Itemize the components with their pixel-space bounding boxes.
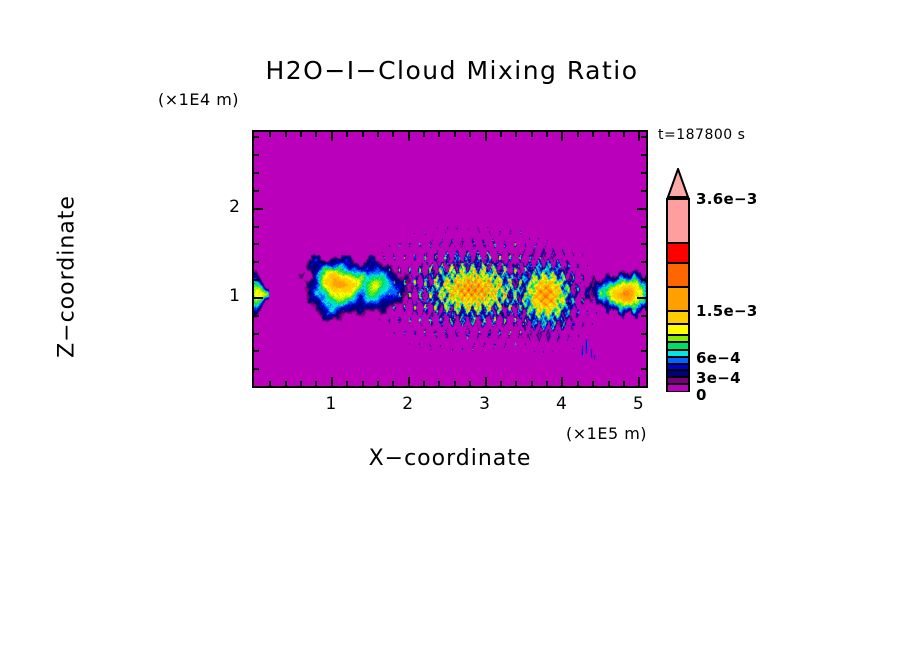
y-tick-right [641, 243, 646, 245]
y-tick-right [641, 368, 646, 370]
colorbar-arrow-icon [666, 168, 690, 198]
x-tick [377, 381, 379, 386]
y-tick-right [641, 136, 646, 138]
colorbar-segment [668, 288, 688, 310]
x-tick [438, 381, 440, 386]
colorbar-ticklabel: 6e−4 [696, 349, 741, 367]
x-tick [638, 377, 640, 386]
x-tick-top [269, 132, 271, 137]
colorbar-segment [668, 312, 688, 323]
x-tick [608, 381, 610, 386]
x-tick-top [331, 132, 333, 141]
x-ticklabel: 2 [388, 394, 428, 414]
x-tick-top [285, 132, 287, 137]
x-ticklabel: 4 [541, 394, 581, 414]
x-axis-units-label: (×1E5 m) [566, 424, 647, 443]
y-tick-right [641, 279, 646, 281]
y-tick [254, 136, 259, 138]
x-tick-top [469, 132, 471, 137]
x-tick-top [423, 132, 425, 137]
page-title: H2O−I−Cloud Mixing Ratio [0, 56, 904, 85]
y-tick-right [641, 154, 646, 156]
x-tick-top [577, 132, 579, 137]
x-tick [362, 381, 364, 386]
y-tick-right [641, 315, 646, 317]
y-tick [254, 333, 259, 335]
y-axis-units-label: (×1E4 m) [158, 90, 239, 109]
x-tick [500, 381, 502, 386]
x-tick-top [500, 132, 502, 137]
colorbar-segment [668, 244, 688, 262]
y-tick [254, 154, 259, 156]
colorbar-ticklabel: 3e−4 [696, 369, 741, 387]
x-tick-top [392, 132, 394, 137]
y-ticklabel: 2 [218, 197, 240, 217]
y-tick-right [641, 190, 646, 192]
colorbar-segment [668, 385, 688, 391]
colorbar[interactable] [666, 168, 690, 392]
y-tick [254, 350, 259, 352]
x-tick-top [454, 132, 456, 137]
colorbar-segment [668, 200, 688, 242]
x-tick-top [608, 132, 610, 137]
y-tick [254, 243, 259, 245]
y-tick-right [641, 172, 646, 174]
y-tick [254, 172, 259, 174]
y-axis-title: Z−coordinate [55, 157, 80, 397]
x-ticklabel: 3 [465, 394, 505, 414]
colorbar-segment [668, 264, 688, 286]
x-tick-top [561, 132, 563, 141]
x-tick-top [638, 132, 640, 141]
timestamp-annotation: t=187800 s [658, 127, 745, 143]
x-tick [392, 381, 394, 386]
x-tick-top [546, 132, 548, 137]
x-tick [561, 377, 563, 386]
x-tick-top [515, 132, 517, 137]
x-tick [577, 381, 579, 386]
y-tick [254, 279, 259, 281]
y-tick-right [637, 297, 646, 299]
y-tick [254, 368, 259, 370]
y-tick [254, 208, 263, 210]
colorbar-segments [666, 198, 690, 392]
x-ticklabel: 1 [311, 394, 351, 414]
colorbar-segment [668, 325, 688, 334]
y-tick [254, 226, 259, 228]
colorbar-ticklabel: 3.6e−3 [696, 190, 758, 208]
x-tick-top [362, 132, 364, 137]
x-ticklabel: 5 [618, 394, 658, 414]
x-tick-top [315, 132, 317, 137]
x-tick-top [408, 132, 410, 141]
x-tick [423, 381, 425, 386]
contour-field [254, 132, 646, 386]
x-tick [269, 381, 271, 386]
x-axis-title: X−coordinate [252, 446, 648, 471]
y-tick-right [641, 333, 646, 335]
y-tick-right [641, 226, 646, 228]
x-tick [300, 381, 302, 386]
y-ticklabel: 1 [218, 286, 240, 306]
colorbar-ticklabel: 0 [696, 386, 707, 404]
x-tick [315, 381, 317, 386]
y-tick-right [641, 350, 646, 352]
y-tick [254, 297, 263, 299]
x-tick [469, 381, 471, 386]
x-tick [331, 377, 333, 386]
y-tick [254, 261, 259, 263]
x-tick-top [346, 132, 348, 137]
x-tick-top [623, 132, 625, 137]
x-tick [531, 381, 533, 386]
x-tick [346, 381, 348, 386]
x-tick [592, 381, 594, 386]
y-tick [254, 315, 259, 317]
heatmap-plot-area[interactable] [252, 130, 648, 388]
x-tick [485, 377, 487, 386]
y-tick [254, 190, 259, 192]
x-tick-top [300, 132, 302, 137]
x-tick-top [531, 132, 533, 137]
x-tick [408, 377, 410, 386]
y-tick-right [641, 261, 646, 263]
colorbar-ticklabel: 1.5e−3 [696, 302, 758, 320]
x-tick-top [438, 132, 440, 137]
x-tick [623, 381, 625, 386]
y-tick-right [637, 208, 646, 210]
x-tick-top [485, 132, 487, 141]
x-tick [546, 381, 548, 386]
x-tick [454, 381, 456, 386]
x-tick-top [592, 132, 594, 137]
x-tick [285, 381, 287, 386]
x-tick-top [377, 132, 379, 137]
x-tick [515, 381, 517, 386]
